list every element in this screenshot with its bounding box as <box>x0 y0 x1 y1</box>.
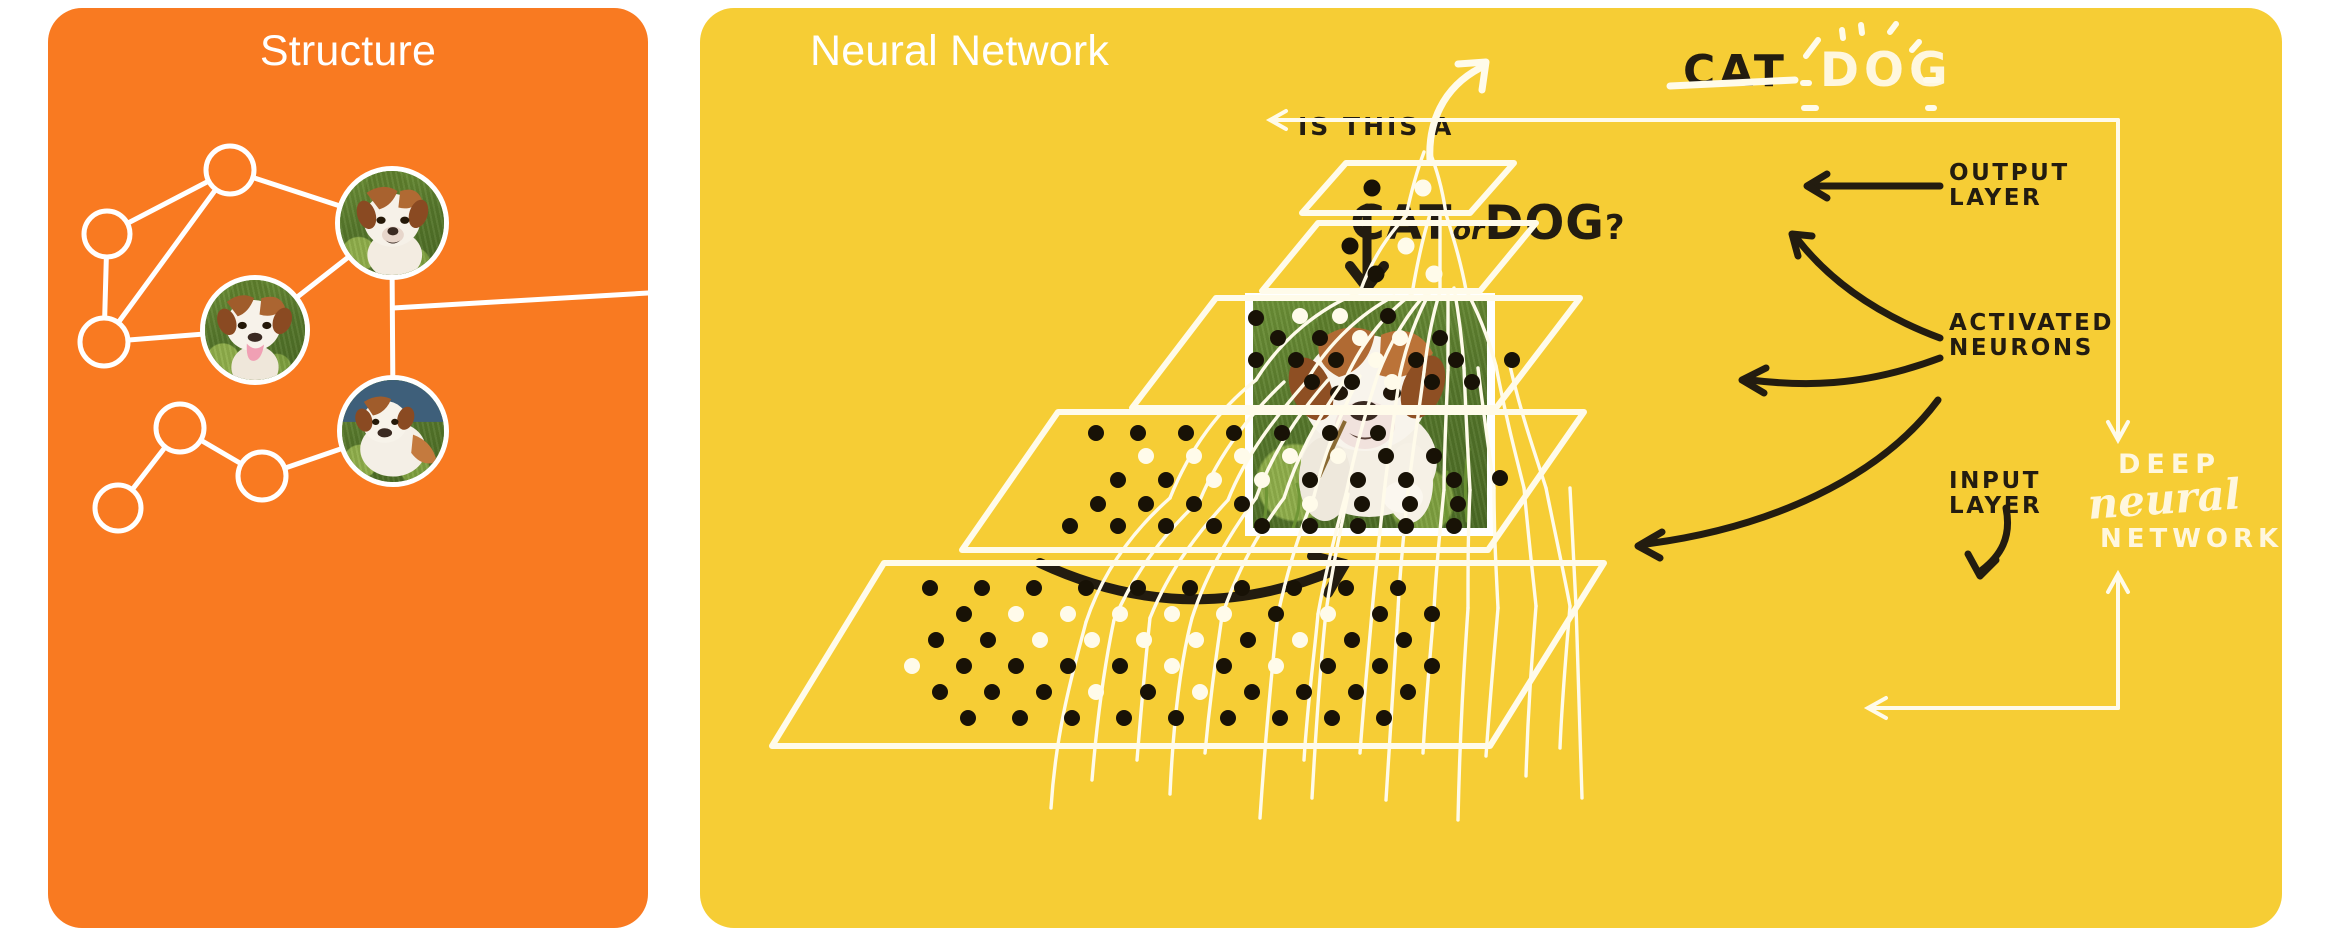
node-bottom-right <box>238 452 286 500</box>
neuron-inactive <box>956 606 972 622</box>
neuron-inactive <box>1140 684 1156 700</box>
neuron-inactive <box>1012 710 1028 726</box>
neuron-active <box>1008 606 1024 622</box>
neuron-inactive <box>960 710 976 726</box>
neuron-inactive <box>1178 425 1194 441</box>
neuron-active <box>1060 606 1076 622</box>
activated-neurons-label: ACTIVATED NEURONS <box>1949 311 2114 361</box>
bulldog-photo-bottom <box>342 380 444 482</box>
photo-node-bulldog-middle <box>200 275 310 385</box>
neuron-inactive <box>1158 472 1174 488</box>
photo-node-bulldog-bottom <box>337 375 449 487</box>
neuron-inactive <box>1008 658 1024 674</box>
neuron-inactive <box>1338 580 1354 596</box>
neuron-inactive <box>1324 710 1340 726</box>
input-photo-bulldog-puppy <box>1253 301 1487 528</box>
neuron-active <box>1292 632 1308 648</box>
neuron-inactive <box>1348 684 1364 700</box>
bulldog-photo-middle <box>205 280 305 380</box>
neuron-inactive <box>1130 580 1146 596</box>
neuron-inactive <box>1226 425 1242 441</box>
neuron-inactive <box>1390 580 1406 596</box>
neuron-inactive <box>1244 684 1260 700</box>
arrow-photo-to-input-layer <box>1040 556 1345 599</box>
neuron-inactive <box>1344 632 1360 648</box>
neuron-inactive <box>1372 658 1388 674</box>
neuron-inactive <box>1240 632 1256 648</box>
node-bottom-mid <box>156 404 204 452</box>
plane-input-layer <box>772 563 1604 746</box>
node-top <box>206 146 254 194</box>
neural-network-panel: Neural Network IS THIS A CATorDOG? <box>700 8 2282 928</box>
neuron-inactive <box>922 580 938 596</box>
deep-caption-line3: NETWORK <box>2100 525 2282 553</box>
neuron-inactive <box>1138 496 1154 512</box>
neuron-inactive <box>1182 580 1198 596</box>
neural-network-panel-title: Neural Network <box>810 30 1109 73</box>
verdict-cat-text: CAT <box>1683 48 1788 96</box>
photo-node-bulldog-top <box>335 166 449 280</box>
neuron-inactive <box>1268 606 1284 622</box>
neuron-inactive <box>1272 710 1288 726</box>
input-layer-label: INPUT LAYER <box>1949 469 2042 519</box>
neuron-inactive <box>1110 518 1126 534</box>
question-dog-word: DOG <box>1484 196 1605 251</box>
node-left-lower <box>80 318 128 366</box>
structure-panel: Structure <box>48 8 648 928</box>
neuron-active <box>1164 606 1180 622</box>
question-prefix-text: IS THIS A <box>1298 113 1454 140</box>
arrow-to-activated-upper <box>1798 240 1940 338</box>
neuron-active <box>1268 658 1284 674</box>
neuron-active <box>1206 472 1222 488</box>
output-layer-label: OUTPUT LAYER <box>1949 161 2070 211</box>
neuron-inactive <box>1296 684 1312 700</box>
neuron-active <box>1138 448 1154 464</box>
neuron-inactive <box>1424 658 1440 674</box>
neuron-inactive <box>974 580 990 596</box>
neuron-inactive <box>928 632 944 648</box>
neuron-inactive <box>1186 496 1202 512</box>
verdict-dog-text: DOG <box>1820 46 1953 97</box>
neuron-inactive <box>1088 425 1104 441</box>
arrow-to-activated-mid <box>1750 358 1940 384</box>
neuron-inactive <box>1036 684 1052 700</box>
neuron-active <box>1186 448 1202 464</box>
neuron-active <box>1088 684 1104 700</box>
question-cat-word: CAT <box>1350 196 1452 251</box>
neuron-inactive <box>1424 606 1440 622</box>
neuron-inactive <box>1400 684 1416 700</box>
neuron-inactive <box>1110 472 1126 488</box>
neuron-active <box>1320 606 1336 622</box>
node-bottom-left <box>95 485 141 531</box>
neuron-inactive <box>1062 518 1078 534</box>
neuron-inactive <box>1130 425 1146 441</box>
neuron-inactive <box>1286 580 1302 596</box>
neuron-active <box>1136 632 1152 648</box>
bulldog-photo-top <box>340 171 444 275</box>
neuron-inactive <box>1372 606 1388 622</box>
neuron-active <box>1164 658 1180 674</box>
neuron-inactive <box>1168 710 1184 726</box>
neuron-active <box>904 658 920 674</box>
neuron-inactive <box>1234 580 1250 596</box>
neuron-inactive <box>1220 710 1236 726</box>
neuron-active <box>1112 606 1128 622</box>
input-photo-frame <box>1245 293 1495 536</box>
neuron-active <box>1084 632 1100 648</box>
neuron-inactive <box>1320 658 1336 674</box>
neuron-inactive <box>1206 518 1222 534</box>
neuron-inactive <box>1026 580 1042 596</box>
neuron-inactive <box>1158 518 1174 534</box>
deep-caption-line2-script: neural <box>2086 469 2242 529</box>
neuron-inactive <box>1064 710 1080 726</box>
neuron-inactive <box>932 684 948 700</box>
node-left-upper <box>84 211 130 257</box>
neuron-inactive <box>984 684 1000 700</box>
structure-panel-title: Structure <box>48 30 648 73</box>
neuron-inactive <box>1396 632 1412 648</box>
neuron-inactive <box>980 632 996 648</box>
neuron-active <box>1032 632 1048 648</box>
arrow-output-to-verdict <box>1430 62 1486 160</box>
question-main-text: CATorDOG? <box>1246 148 1626 300</box>
arrow-to-activated-lower <box>1646 400 1938 544</box>
neuron-inactive <box>1116 710 1132 726</box>
neuron-inactive <box>1090 496 1106 512</box>
neuron-inactive <box>1112 658 1128 674</box>
neuron-inactive <box>956 658 972 674</box>
question-mark: ? <box>1605 208 1626 248</box>
neuron-inactive <box>1504 352 1520 368</box>
neuron-inactive <box>1078 580 1094 596</box>
question-or-word: or <box>1452 215 1484 246</box>
neuron-active <box>1188 632 1204 648</box>
neuron-active <box>1216 606 1232 622</box>
neuron-inactive <box>1376 710 1392 726</box>
diagram-canvas: Structure <box>0 0 2330 936</box>
neuron-inactive <box>1060 658 1076 674</box>
neuron-inactive <box>1216 658 1232 674</box>
neuron-active <box>1192 684 1208 700</box>
